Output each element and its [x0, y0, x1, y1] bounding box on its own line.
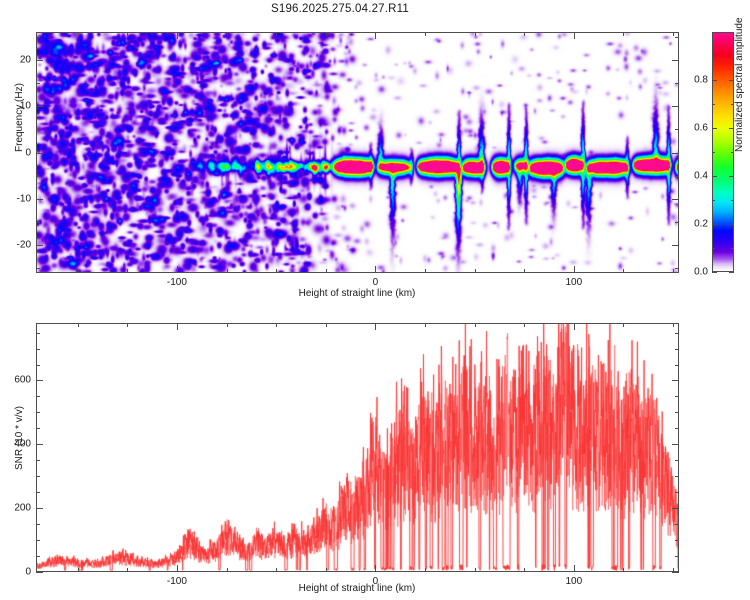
tick-label: 200 [14, 503, 31, 514]
tick-label: -100 [167, 576, 187, 587]
tick-label: 600 [14, 375, 31, 386]
tick-label: 100 [565, 576, 582, 587]
plot-page: S196.2025.275.04.27.R11 -100010020100-10… [0, 0, 750, 600]
snr-yaxis-title: SNR (10 * v/v) [14, 406, 25, 470]
tick-label: 0 [25, 567, 31, 578]
snr-tick-labels: -10001006004002000 [0, 0, 750, 600]
snr-xaxis-title: Height of straight line (km) [299, 583, 416, 594]
